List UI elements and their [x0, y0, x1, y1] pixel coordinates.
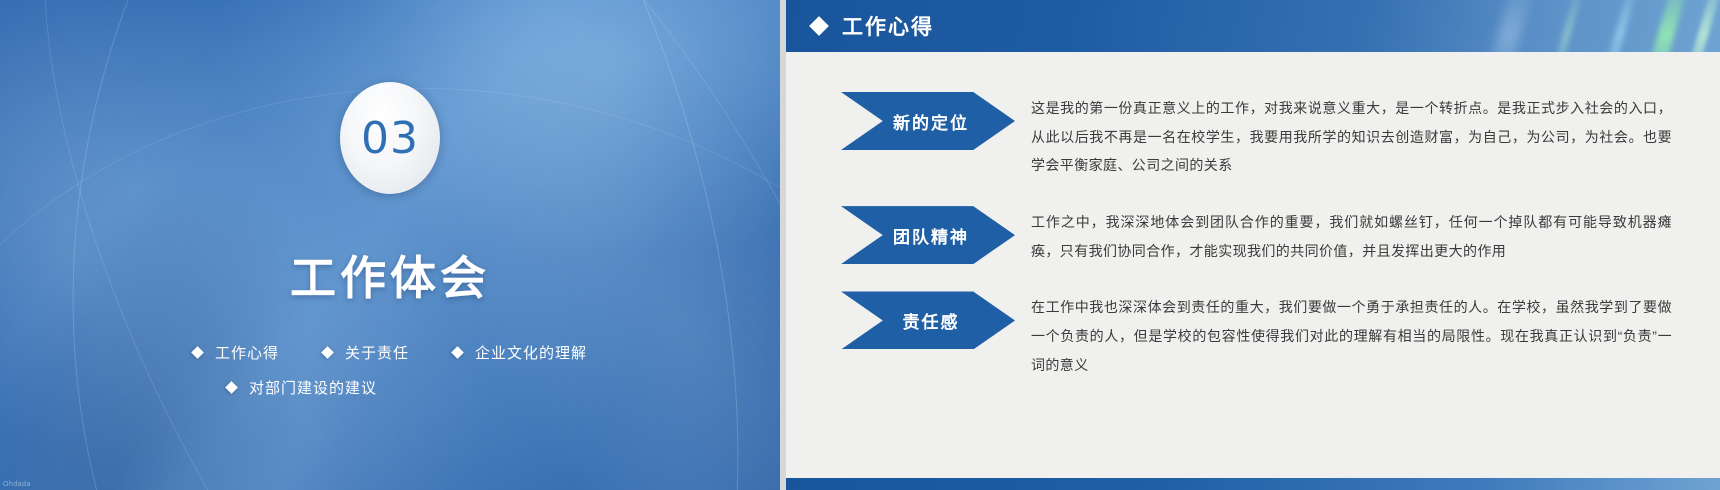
content-block: 团队精神 工作之中，我深深地体会到团队合作的重要，我们就如螺丝钉，任何一个掉队都…: [786, 206, 1720, 265]
block-label-wrap: 新的定位: [786, 92, 1031, 150]
block-label-wrap: 责任感: [786, 291, 1031, 349]
agenda-item-2[interactable]: 关于责任: [323, 342, 409, 363]
section-cover-content: 03 工作体会 工作心得 关于责任 企业文化的理解: [0, 0, 780, 490]
section-title: 工作体会: [290, 242, 490, 308]
agenda-item-4-label: 对部门建设的建议: [249, 377, 377, 398]
diamond-icon: [191, 346, 204, 359]
chevron-banner[interactable]: 团队精神: [841, 206, 1015, 264]
chevron-banner[interactable]: 新的定位: [841, 92, 1015, 150]
agenda-item-4[interactable]: 对部门建设的建议: [227, 377, 377, 398]
diamond-icon: [321, 346, 334, 359]
section-cover-panel: 03 工作体会 工作心得 关于责任 企业文化的理解: [0, 0, 780, 490]
content-panel: 工作心得 新的定位 这是我的第一份真正意义上的工作，对我来说意义重大，是一个转折…: [786, 0, 1720, 490]
aurora-streak: [1680, 0, 1720, 52]
aurora-streak: [1545, 0, 1588, 52]
block-label: 团队精神: [887, 223, 969, 248]
block-label: 新的定位: [887, 109, 969, 134]
content-block: 新的定位 这是我的第一份真正意义上的工作，对我来说意义重大，是一个转折点。是我正…: [786, 92, 1720, 180]
aurora-streak: [1597, 0, 1641, 52]
section-number-badge: 03: [340, 82, 440, 194]
block-label: 责任感: [897, 308, 960, 333]
chevron-banner[interactable]: 责任感: [841, 291, 1015, 349]
agenda-item-2-label: 关于责任: [345, 342, 409, 363]
diamond-icon: [451, 346, 464, 359]
agenda-item-1[interactable]: 工作心得: [193, 342, 279, 363]
content-blocks: 新的定位 这是我的第一份真正意义上的工作，对我来说意义重大，是一个转折点。是我正…: [786, 52, 1720, 490]
content-header-title: 工作心得: [842, 11, 934, 41]
content-header-bar: 工作心得: [786, 0, 1720, 52]
slide: 03 工作体会 工作心得 关于责任 企业文化的理解: [0, 0, 1720, 490]
section-agenda-list: 工作心得 关于责任 企业文化的理解 对部门建设的建议: [0, 342, 780, 412]
agenda-item-1-label: 工作心得: [215, 342, 279, 363]
aurora-streak: [1640, 0, 1691, 52]
content-block: 责任感 在工作中我也深深体会到责任的重大，我们要做一个勇于承担责任的人。在学校，…: [786, 291, 1720, 379]
agenda-row-2: 对部门建设的建议: [0, 377, 780, 398]
content-footer-bar: [786, 478, 1720, 490]
watermark: Ohdada: [3, 481, 31, 488]
block-paragraph: 在工作中我也深深体会到责任的重大，我们要做一个勇于承担责任的人。在学校，虽然我学…: [1031, 291, 1720, 379]
block-paragraph: 工作之中，我深深地体会到团队合作的重要，我们就如螺丝钉，任何一个掉队都有可能导致…: [1031, 206, 1720, 265]
block-label-wrap: 团队精神: [786, 206, 1031, 264]
block-paragraph: 这是我的第一份真正意义上的工作，对我来说意义重大，是一个转折点。是我正式步入社会…: [1031, 92, 1720, 180]
diamond-icon: [225, 381, 238, 394]
section-number: 03: [361, 113, 419, 164]
agenda-item-3[interactable]: 企业文化的理解: [453, 342, 587, 363]
aurora-streak: [1481, 0, 1538, 52]
diamond-icon: [809, 16, 829, 36]
agenda-row-1: 工作心得 关于责任 企业文化的理解: [0, 342, 780, 363]
agenda-item-3-label: 企业文化的理解: [475, 342, 587, 363]
